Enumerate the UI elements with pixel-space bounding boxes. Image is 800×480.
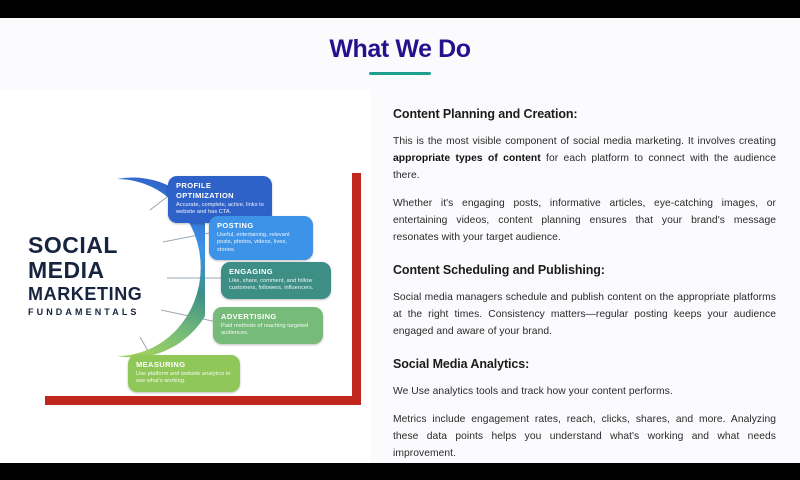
heading-content-planning: Content Planning and Creation: — [393, 106, 776, 122]
callout-engaging[interactable]: ENGAGING Like, share, comment, and follo… — [221, 262, 331, 299]
paragraph-analytics-2: Metrics include engagement rates, reach,… — [393, 411, 776, 462]
callout-advertising[interactable]: ADVERTISING Paid methods of reaching tar… — [213, 307, 323, 344]
paragraph-text-part-a: This is the most visible component of so… — [393, 136, 776, 147]
paragraph-analytics-1: We Use analytics tools and track how you… — [393, 383, 776, 400]
page-title: What We Do — [0, 35, 800, 64]
callout-title: ENGAGING — [229, 267, 324, 277]
letterbox-top — [0, 0, 800, 18]
callout-description: Useful, entertaining, relevant posts, ph… — [217, 232, 306, 254]
paragraph-content-scheduling-1: Social media managers schedule and publi… — [393, 289, 776, 340]
brand-line-2: MEDIA — [28, 258, 188, 283]
heading-content-scheduling: Content Scheduling and Publishing: — [393, 262, 776, 278]
callout-posting[interactable]: POSTING Useful, entertaining, relevant p… — [209, 216, 313, 260]
paragraph-content-planning-2: Whether it's engaging posts, informative… — [393, 195, 776, 246]
brand-lockup: SOCIAL MEDIA MARKETING FUNDAMENTALS — [28, 233, 188, 319]
brand-line-3: MARKETING — [28, 283, 188, 305]
callout-description: Paid methods of reaching targeted audien… — [221, 323, 316, 338]
callout-measuring[interactable]: MEASURING Use platform and website analy… — [128, 355, 240, 392]
slide-canvas: What We Do — [0, 18, 800, 463]
callout-title: PROFILE OPTIMIZATION — [176, 181, 265, 201]
letterbox-bottom — [0, 463, 800, 480]
callout-description: Like, share, comment, and follow custome… — [229, 278, 324, 293]
callout-description: Use platform and website analytics to se… — [136, 371, 233, 386]
brand-line-4: FUNDAMENTALS — [28, 305, 188, 319]
callout-title: MEASURING — [136, 360, 233, 370]
slide-header: What We Do — [0, 18, 800, 90]
callout-description: Accurate, complete, active, links to web… — [176, 202, 265, 217]
paragraph-emphasis: appropriate types of content — [393, 153, 541, 164]
brand-line-1: SOCIAL — [28, 233, 188, 258]
paragraph-content-planning-1: This is the most visible component of so… — [393, 133, 776, 184]
title-underline — [369, 72, 431, 75]
smm-fundamentals-infographic: SOCIAL MEDIA MARKETING FUNDAMENTALS PROF… — [0, 90, 371, 463]
content-panel: Content Planning and Creation: This is t… — [371, 90, 800, 463]
callout-title: ADVERTISING — [221, 312, 316, 322]
heading-social-media-analytics: Social Media Analytics: — [393, 356, 776, 372]
infographic-panel: SOCIAL MEDIA MARKETING FUNDAMENTALS PROF… — [0, 90, 371, 463]
callout-title: POSTING — [217, 221, 306, 231]
